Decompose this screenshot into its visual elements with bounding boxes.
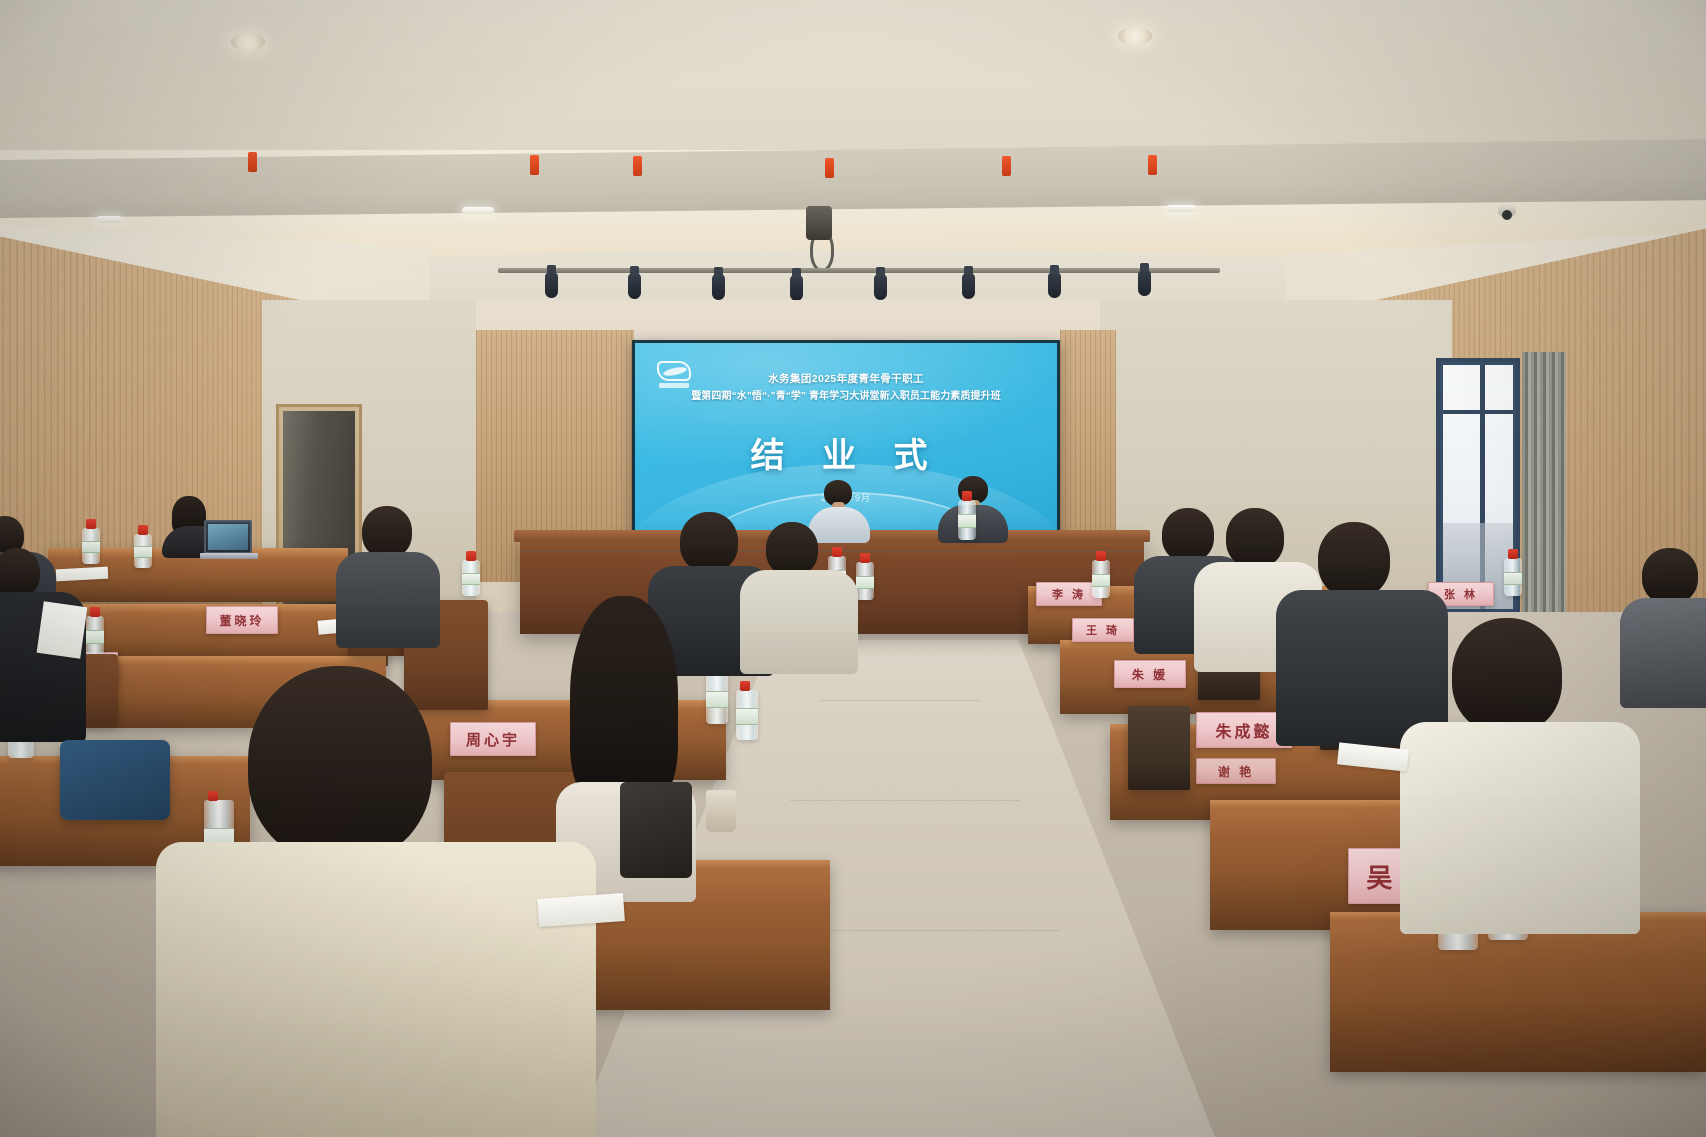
- bag-on-chair: [620, 782, 692, 878]
- bottle-label: [1092, 574, 1110, 587]
- sprinkler-clip: [248, 152, 257, 172]
- bottle-label: [1504, 572, 1522, 585]
- torso: [1400, 722, 1640, 934]
- head: [248, 666, 432, 862]
- track-light-head: [628, 273, 641, 299]
- name-placard: 朱 媛: [1114, 660, 1186, 688]
- desk-front: [1330, 1005, 1706, 1072]
- screen-headline-line1: 水务集团2025年度青年骨干职工: [635, 371, 1057, 386]
- lighting-track-rail: [498, 268, 1220, 273]
- name-placard: 王 琦: [1072, 618, 1134, 642]
- water-bottle: [736, 690, 758, 740]
- audience-person-with-glasses: [1400, 618, 1630, 918]
- torso: [1620, 598, 1706, 708]
- paper-cup: [706, 790, 736, 832]
- torso: [740, 570, 858, 674]
- ceiling-strip-light: [96, 216, 122, 223]
- bottle-label: [856, 576, 874, 589]
- track-light-head: [1048, 272, 1061, 298]
- head: [1452, 618, 1562, 734]
- water-bottle: [706, 672, 728, 724]
- ceiling-speaker: [806, 206, 832, 240]
- screen-headline-line2: 暨第四期“水”悟“·”青“学” 青年学习大讲堂新入职员工能力素质提升班: [635, 387, 1057, 402]
- sprinkler-clip: [1002, 156, 1011, 176]
- name-placard: 谢 艳: [1196, 758, 1276, 784]
- bag-on-chair: [60, 740, 170, 820]
- water-bottle: [86, 616, 104, 656]
- bottle-label: [706, 691, 728, 709]
- laptop-screen[interactable]: [204, 520, 252, 554]
- water-bottle: [134, 534, 152, 568]
- bottle-label: [958, 514, 976, 528]
- name-placard: 董晓玲: [206, 606, 278, 634]
- audience-person: [1628, 548, 1706, 698]
- downlight: [231, 33, 265, 51]
- laptop-base[interactable]: [200, 553, 258, 559]
- bottle-label: [462, 573, 480, 585]
- screen-main-title: 结 业 式: [635, 428, 1057, 477]
- water-bottle: [856, 562, 874, 600]
- water-bottle: [1504, 558, 1522, 596]
- ceiling-strip-light: [462, 207, 494, 214]
- sprinkler-clip: [825, 158, 834, 178]
- track-light-head: [790, 275, 803, 301]
- downlight: [1118, 27, 1152, 45]
- conference-room-photo: 水务集团2025年度青年骨干职工 暨第四期“水”悟“·”青“学” 青年学习大讲堂…: [0, 0, 1706, 1137]
- torso: [156, 842, 596, 1137]
- bottle-label: [86, 630, 104, 644]
- sprinkler-clip: [633, 156, 642, 176]
- head: [766, 522, 818, 576]
- desk-front: [48, 579, 348, 602]
- sprinkler-clip: [1148, 155, 1157, 175]
- bottle-label: [736, 708, 758, 725]
- audience-person: [338, 506, 434, 636]
- head: [0, 548, 40, 598]
- bottle-label: [134, 546, 152, 558]
- audience-person-foreground: [156, 666, 596, 1136]
- floor-seam: [820, 700, 980, 701]
- audience-person: [744, 522, 854, 662]
- torso: [336, 552, 440, 648]
- water-bottle: [1092, 560, 1110, 598]
- window-mullion-horizontal: [1443, 410, 1513, 414]
- track-light-head: [874, 274, 887, 300]
- ceiling-strip-light: [1166, 205, 1196, 212]
- dome-camera-icon: [1498, 203, 1516, 217]
- track-light-head: [545, 272, 558, 298]
- window-curtain[interactable]: [1522, 352, 1566, 642]
- document-sheet: [537, 893, 625, 927]
- head: [680, 512, 738, 572]
- head: [362, 506, 412, 558]
- water-bottle: [958, 500, 976, 540]
- track-light-head: [712, 274, 725, 300]
- head: [1642, 548, 1698, 604]
- track-light-head: [1138, 270, 1151, 296]
- floor-seam: [790, 800, 1020, 801]
- water-bottle: [462, 560, 480, 596]
- track-light-head: [962, 273, 975, 299]
- chair[interactable]: [1128, 706, 1190, 790]
- held-document: [37, 601, 88, 659]
- head: [1318, 522, 1390, 598]
- sprinkler-clip: [530, 155, 539, 175]
